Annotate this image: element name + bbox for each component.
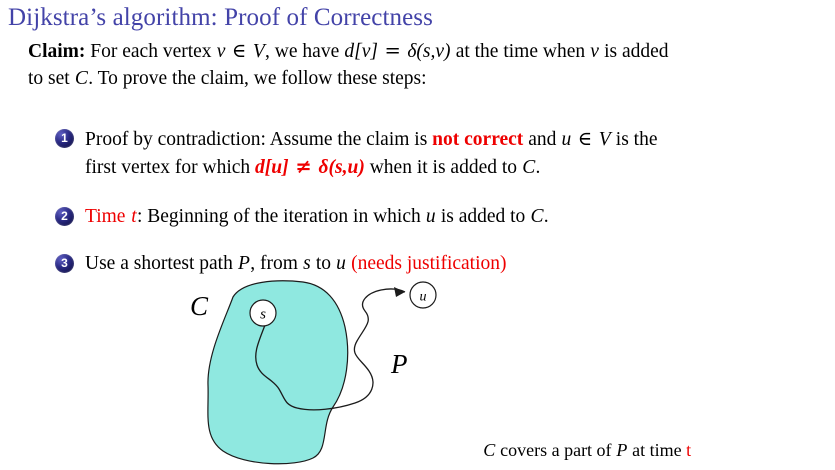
diagram-caption: C covers a part of P at time t — [483, 440, 691, 461]
step-1-text-b: and — [523, 129, 561, 150]
step-3-var-s: s — [303, 253, 311, 274]
step-number-badge-3: 3 — [55, 254, 74, 273]
list-item-step-3: 3 Use a shortest path P, from s to u (ne… — [55, 250, 835, 277]
claim-var-v2: v — [590, 41, 599, 62]
claim-label: Claim: — [28, 41, 85, 62]
step-3-text-a: Use a shortest path — [85, 253, 238, 274]
step-1-math-delta-su: δ(s,u) — [319, 157, 365, 178]
caption-var-t: t — [686, 440, 691, 460]
page-title: Dijkstra’s algorithm: Proof of Correctne… — [8, 4, 433, 32]
step-1-line2-b: when it is added to — [365, 157, 522, 178]
step-1-var-C: C — [522, 157, 536, 178]
caption-var-C: C — [483, 440, 496, 460]
step-1-line2-a: first vertex for which — [85, 157, 255, 178]
step-1-var-V: V — [598, 129, 611, 150]
step-3-text-b: , from — [250, 253, 303, 274]
claim-line2-post: . To prove the claim, we follow these st… — [88, 68, 426, 89]
step-3-var-P: P — [238, 253, 251, 274]
step-1-math-du: d[u] — [255, 157, 289, 178]
node-s-label: s — [260, 307, 266, 323]
set-c-label: C — [190, 291, 209, 321]
not-equals-icon: ≠ — [289, 155, 319, 178]
step-3-red-note: (needs justification) — [351, 253, 506, 274]
element-of-icon: ∈ — [572, 127, 599, 150]
step-2-red-label: Time — [85, 206, 125, 227]
claim-line2-pre: to set — [28, 68, 75, 89]
step-2-var-u: u — [426, 206, 436, 227]
step-number-badge-2: 2 — [55, 207, 74, 226]
equals-icon: = — [378, 39, 407, 62]
path-arrowhead — [394, 287, 405, 297]
step-2-var-C: C — [530, 206, 544, 227]
claim-text-2: , we have — [265, 41, 344, 62]
claim-var-v1: v — [216, 41, 225, 62]
step-number-badge-1: 1 — [55, 129, 74, 148]
step-2-text-c: . — [544, 206, 549, 227]
step-2-text-a: : Beginning of the iteration in which — [137, 206, 426, 227]
claim-text-1: For each vertex — [85, 41, 216, 62]
claim-math-dv: d[v] — [344, 41, 378, 62]
claim-var-V: V — [253, 41, 266, 62]
step-1-highlight: not correct — [432, 129, 523, 150]
claim-text-4: is added — [599, 41, 668, 62]
claim-var-C: C — [75, 68, 89, 89]
caption-text-a: covers a part of — [496, 440, 616, 460]
set-c-blob — [208, 281, 348, 464]
claim-text-3: at the time when — [451, 41, 590, 62]
claim-paragraph: Claim: For each vertex v ∈ V, we have d[… — [28, 37, 828, 92]
step-3-var-u: u — [336, 253, 346, 274]
step-1-line2-c: . — [536, 157, 541, 178]
list-item-step-2: 2 Time t: Beginning of the iteration in … — [55, 203, 835, 230]
step-1-var-u: u — [561, 129, 571, 150]
caption-var-P: P — [616, 440, 628, 460]
step-3-text-c: to — [311, 253, 336, 274]
proof-diagram: s u C P — [185, 275, 465, 470]
caption-text-b: at time — [628, 440, 686, 460]
step-1-text-a: Assume the claim is — [266, 129, 432, 150]
step-1-heading: Proof by contradiction: — [85, 129, 266, 150]
step-1-text-c: is the — [611, 129, 658, 150]
claim-math-delta-sv: δ(s,v) — [407, 41, 451, 62]
path-p-label: P — [390, 349, 408, 379]
list-item-step-1: 1 Proof by contradiction: Assume the cla… — [55, 125, 835, 181]
node-u-label: u — [420, 290, 427, 305]
step-2-text-b: is added to — [436, 206, 530, 227]
element-of-icon: ∈ — [226, 39, 253, 62]
